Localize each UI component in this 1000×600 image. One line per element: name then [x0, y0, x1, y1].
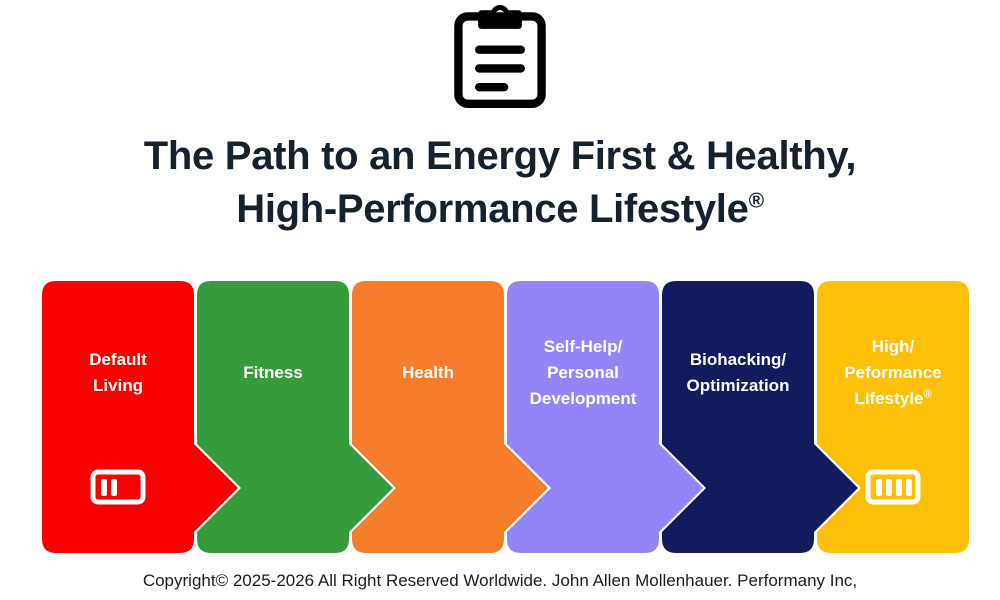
copyright-line-1: Copyright© 2025-2026 All Right Reserved … — [143, 571, 857, 590]
slide-canvas: The Path to an Energy First & Healthy, H… — [0, 0, 1000, 600]
clipboard-icon-container — [0, 6, 1000, 112]
title-line-1: The Path to an Energy First & Healthy, — [144, 134, 856, 178]
copyright-line-2: All Rights Reserved. — [0, 594, 1000, 600]
copyright-footer: Copyright© 2025-2026 All Right Reserved … — [0, 568, 1000, 600]
registered-mark: ® — [749, 190, 764, 213]
clipboard-icon — [448, 5, 552, 114]
chevron-step-high-performance-lifestyle[interactable]: High/PeformanceLIfestyle® — [817, 281, 969, 553]
chevron-shape — [817, 281, 969, 553]
process-chevron-diagram: DefaultLivingFitnessHealthSelf-Help/Pers… — [0, 281, 1000, 553]
title-line-2: High-Performance Lifestyle — [236, 187, 748, 231]
page-title: The Path to an Energy First & Healthy, H… — [50, 130, 950, 236]
